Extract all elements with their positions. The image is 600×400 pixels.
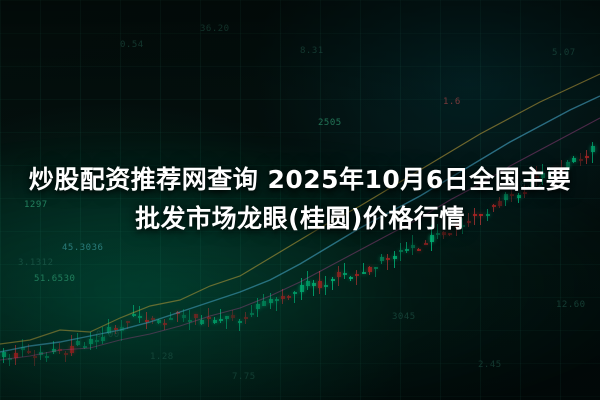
headline-title: 炒股配资推荐网查询 2025年10月6日全国主要批发市场龙眼(桂圆)价格行情 — [20, 161, 580, 239]
headline-overlay: 炒股配资推荐网查询 2025年10月6日全国主要批发市场龙眼(桂圆)价格行情 — [0, 0, 600, 400]
screenshot-root: 25051.6129745.303651.65303.13120.001.287… — [0, 0, 600, 400]
